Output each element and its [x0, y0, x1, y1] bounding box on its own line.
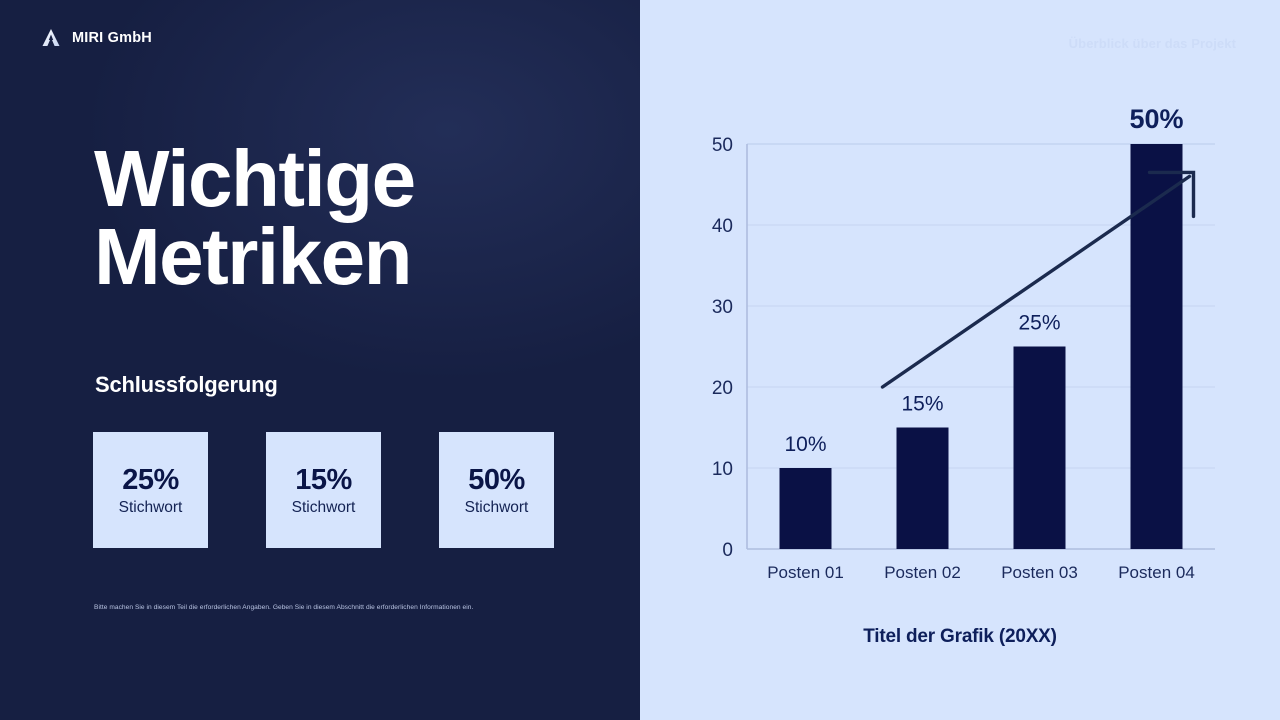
bar-chart: 01020304050 10%15%25%50% Posten 01Posten…	[640, 0, 1280, 720]
svg-text:50: 50	[712, 135, 733, 156]
page-title-line-1: Wichtige	[94, 140, 594, 218]
stat-card-row: 25% Stichwort 15% Stichwort 50% Stichwor…	[93, 432, 554, 548]
bar-category-label: Posten 04	[1118, 563, 1195, 582]
bar-value-label: 10%	[784, 433, 826, 456]
bar-value-label: 15%	[901, 393, 943, 416]
bar-posten-02	[897, 428, 949, 550]
chart-title: Titel der Grafik (20XX)	[640, 626, 1280, 648]
bar-value-label: 25%	[1018, 312, 1060, 335]
bar-category-label: Posten 03	[1001, 563, 1078, 582]
bar-posten-03	[1014, 347, 1066, 550]
left-panel: MIRI GmbH Wichtige Metriken Schlussfolge…	[0, 0, 640, 720]
brand-name: MIRI GmbH	[72, 30, 152, 46]
stat-card-value: 25%	[122, 464, 179, 497]
stat-card-label: Stichwort	[292, 499, 356, 517]
brand-lockup: MIRI GmbH	[40, 27, 152, 49]
bar-category-label: Posten 01	[767, 563, 844, 582]
svg-text:40: 40	[712, 216, 733, 237]
page-title: Wichtige Metriken	[94, 140, 594, 297]
stat-card-label: Stichwort	[119, 499, 183, 517]
svg-text:30: 30	[712, 297, 733, 318]
svg-text:20: 20	[712, 378, 733, 399]
bar-posten-01	[780, 468, 832, 549]
chart-y-tick-labels: 01020304050	[712, 135, 733, 561]
stat-card: 25% Stichwort	[93, 432, 208, 548]
stat-card-value: 15%	[295, 464, 352, 497]
chart-bar-value-labels: 10%15%25%50%	[784, 104, 1183, 456]
stat-card-value: 50%	[468, 464, 525, 497]
right-panel: Überblick über das Projekt 01020304050 1…	[640, 0, 1280, 720]
svg-text:0: 0	[722, 540, 733, 561]
bar-category-label: Posten 02	[884, 563, 961, 582]
stat-card: 15% Stichwort	[266, 432, 381, 548]
bar-posten-04	[1131, 144, 1183, 549]
slide-root: MIRI GmbH Wichtige Metriken Schlussfolge…	[0, 0, 1280, 720]
footnote-text: Bitte machen Sie in diesem Teil die erfo…	[94, 604, 564, 613]
page-title-line-2: Metriken	[94, 218, 594, 296]
chart-x-category-labels: Posten 01Posten 02Posten 03Posten 04	[767, 563, 1195, 582]
svg-text:10: 10	[712, 459, 733, 480]
stat-card-label: Stichwort	[465, 499, 529, 517]
stat-card: 50% Stichwort	[439, 432, 554, 548]
section-subtitle: Schlussfolgerung	[95, 372, 278, 398]
chart-bars	[780, 144, 1183, 549]
bar-value-label: 50%	[1129, 104, 1183, 134]
triangle-a-logo-icon	[40, 27, 62, 49]
